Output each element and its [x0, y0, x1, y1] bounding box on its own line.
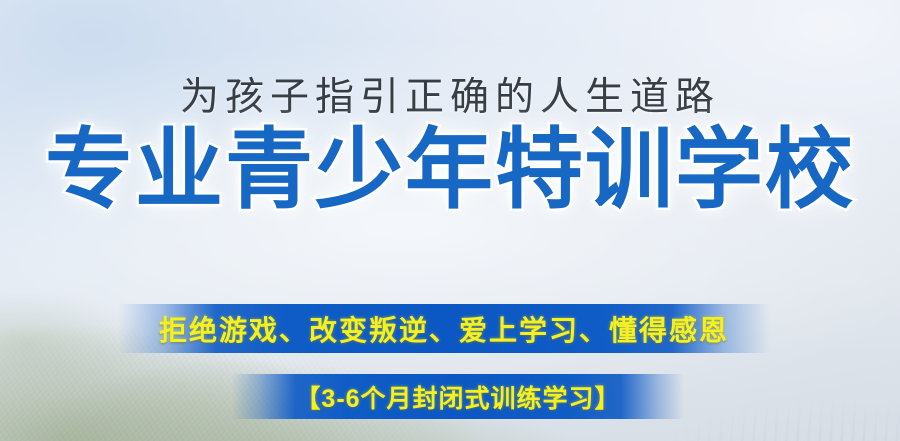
- banner-strip-primary: 拒绝游戏、改变叛逆、爱上学习、懂得感恩: [118, 304, 770, 353]
- poster-headline: 专业青少年特训学校: [0, 124, 900, 216]
- poster-content: 为孩子指引正确的人生道路 专业青少年特训学校 拒绝游戏、改变叛逆、爱上学习、懂得…: [0, 0, 900, 441]
- banner-strip-secondary: 【3-6个月封闭式训练学习】: [232, 374, 684, 419]
- banner-secondary-text: 【3-6个月封闭式训练学习】: [295, 379, 620, 415]
- banner-primary-text: 拒绝游戏、改变叛逆、爱上学习、懂得感恩: [159, 309, 729, 349]
- poster-subtitle: 为孩子指引正确的人生道路: [0, 66, 900, 122]
- promotional-banner: 为孩子指引正确的人生道路 专业青少年特训学校 拒绝游戏、改变叛逆、爱上学习、懂得…: [0, 0, 900, 441]
